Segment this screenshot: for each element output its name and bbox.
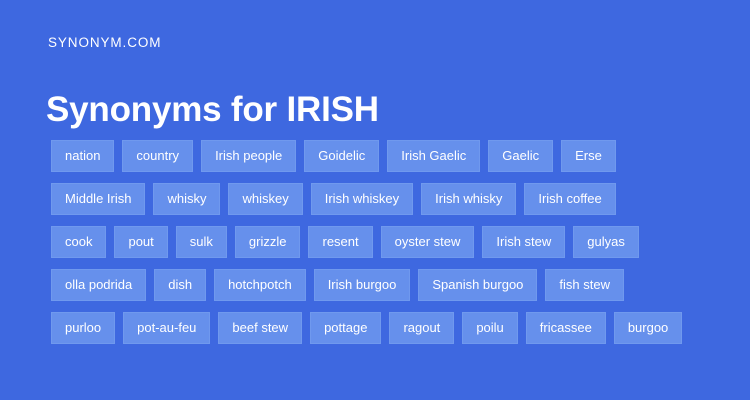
synonym-tag[interactable]: fricassee xyxy=(526,312,606,344)
synonym-tag[interactable]: resent xyxy=(308,226,372,258)
synonym-tag[interactable]: grizzle xyxy=(235,226,301,258)
synonym-tag[interactable]: pout xyxy=(114,226,167,258)
synonym-tag[interactable]: beef stew xyxy=(218,312,302,344)
synonym-tag[interactable]: Irish people xyxy=(201,140,296,172)
synonym-tag[interactable]: burgoo xyxy=(614,312,682,344)
synonym-tag[interactable]: purloo xyxy=(51,312,115,344)
synonym-tag[interactable]: Gaelic xyxy=(488,140,553,172)
synonyms-page: SYNONYM.COM Synonyms for IRISH nationcou… xyxy=(0,0,750,400)
synonym-tag[interactable]: Irish burgoo xyxy=(314,269,411,301)
synonym-tag[interactable]: gulyas xyxy=(573,226,639,258)
synonym-tag[interactable]: pot-au-feu xyxy=(123,312,210,344)
synonym-tag[interactable]: ragout xyxy=(389,312,454,344)
site-brand: SYNONYM.COM xyxy=(48,35,161,51)
synonym-tag[interactable]: Irish coffee xyxy=(524,183,615,215)
synonym-tag[interactable]: Erse xyxy=(561,140,616,172)
synonym-tag[interactable]: Irish whisky xyxy=(421,183,516,215)
synonym-tag[interactable]: Irish whiskey xyxy=(311,183,413,215)
synonym-tag[interactable]: whiskey xyxy=(228,183,302,215)
synonym-tag[interactable]: pottage xyxy=(310,312,381,344)
synonym-tag-row: Middle IrishwhiskywhiskeyIrish whiskeyIr… xyxy=(51,183,711,215)
synonym-tag[interactable]: cook xyxy=(51,226,106,258)
synonym-tag-row: purloopot-au-feubeef stewpottageragoutpo… xyxy=(51,312,711,344)
synonym-tag[interactable]: Spanish burgoo xyxy=(418,269,537,301)
synonym-tag[interactable]: nation xyxy=(51,140,114,172)
page-title: Synonyms for IRISH xyxy=(46,89,379,131)
synonym-tag-row: nationcountryIrish peopleGoidelicIrish G… xyxy=(51,140,711,172)
synonym-tag[interactable]: whisky xyxy=(153,183,220,215)
synonym-tag[interactable]: fish stew xyxy=(545,269,624,301)
synonym-tag[interactable]: Irish stew xyxy=(482,226,565,258)
synonym-tag[interactable]: Goidelic xyxy=(304,140,379,172)
synonym-tag[interactable]: country xyxy=(122,140,193,172)
synonym-tag[interactable]: dish xyxy=(154,269,206,301)
synonym-tag[interactable]: oyster stew xyxy=(381,226,475,258)
synonym-tag-row: cookpoutsulkgrizzleresentoyster stewIris… xyxy=(51,226,711,258)
synonym-tag[interactable]: Middle Irish xyxy=(51,183,145,215)
synonym-tag[interactable]: poilu xyxy=(462,312,517,344)
synonym-tag-list: nationcountryIrish peopleGoidelicIrish G… xyxy=(51,140,711,355)
synonym-tag[interactable]: sulk xyxy=(176,226,227,258)
synonym-tag[interactable]: olla podrida xyxy=(51,269,146,301)
synonym-tag-row: olla podridadishhotchpotchIrish burgooSp… xyxy=(51,269,711,301)
synonym-tag[interactable]: Irish Gaelic xyxy=(387,140,480,172)
synonym-tag[interactable]: hotchpotch xyxy=(214,269,306,301)
